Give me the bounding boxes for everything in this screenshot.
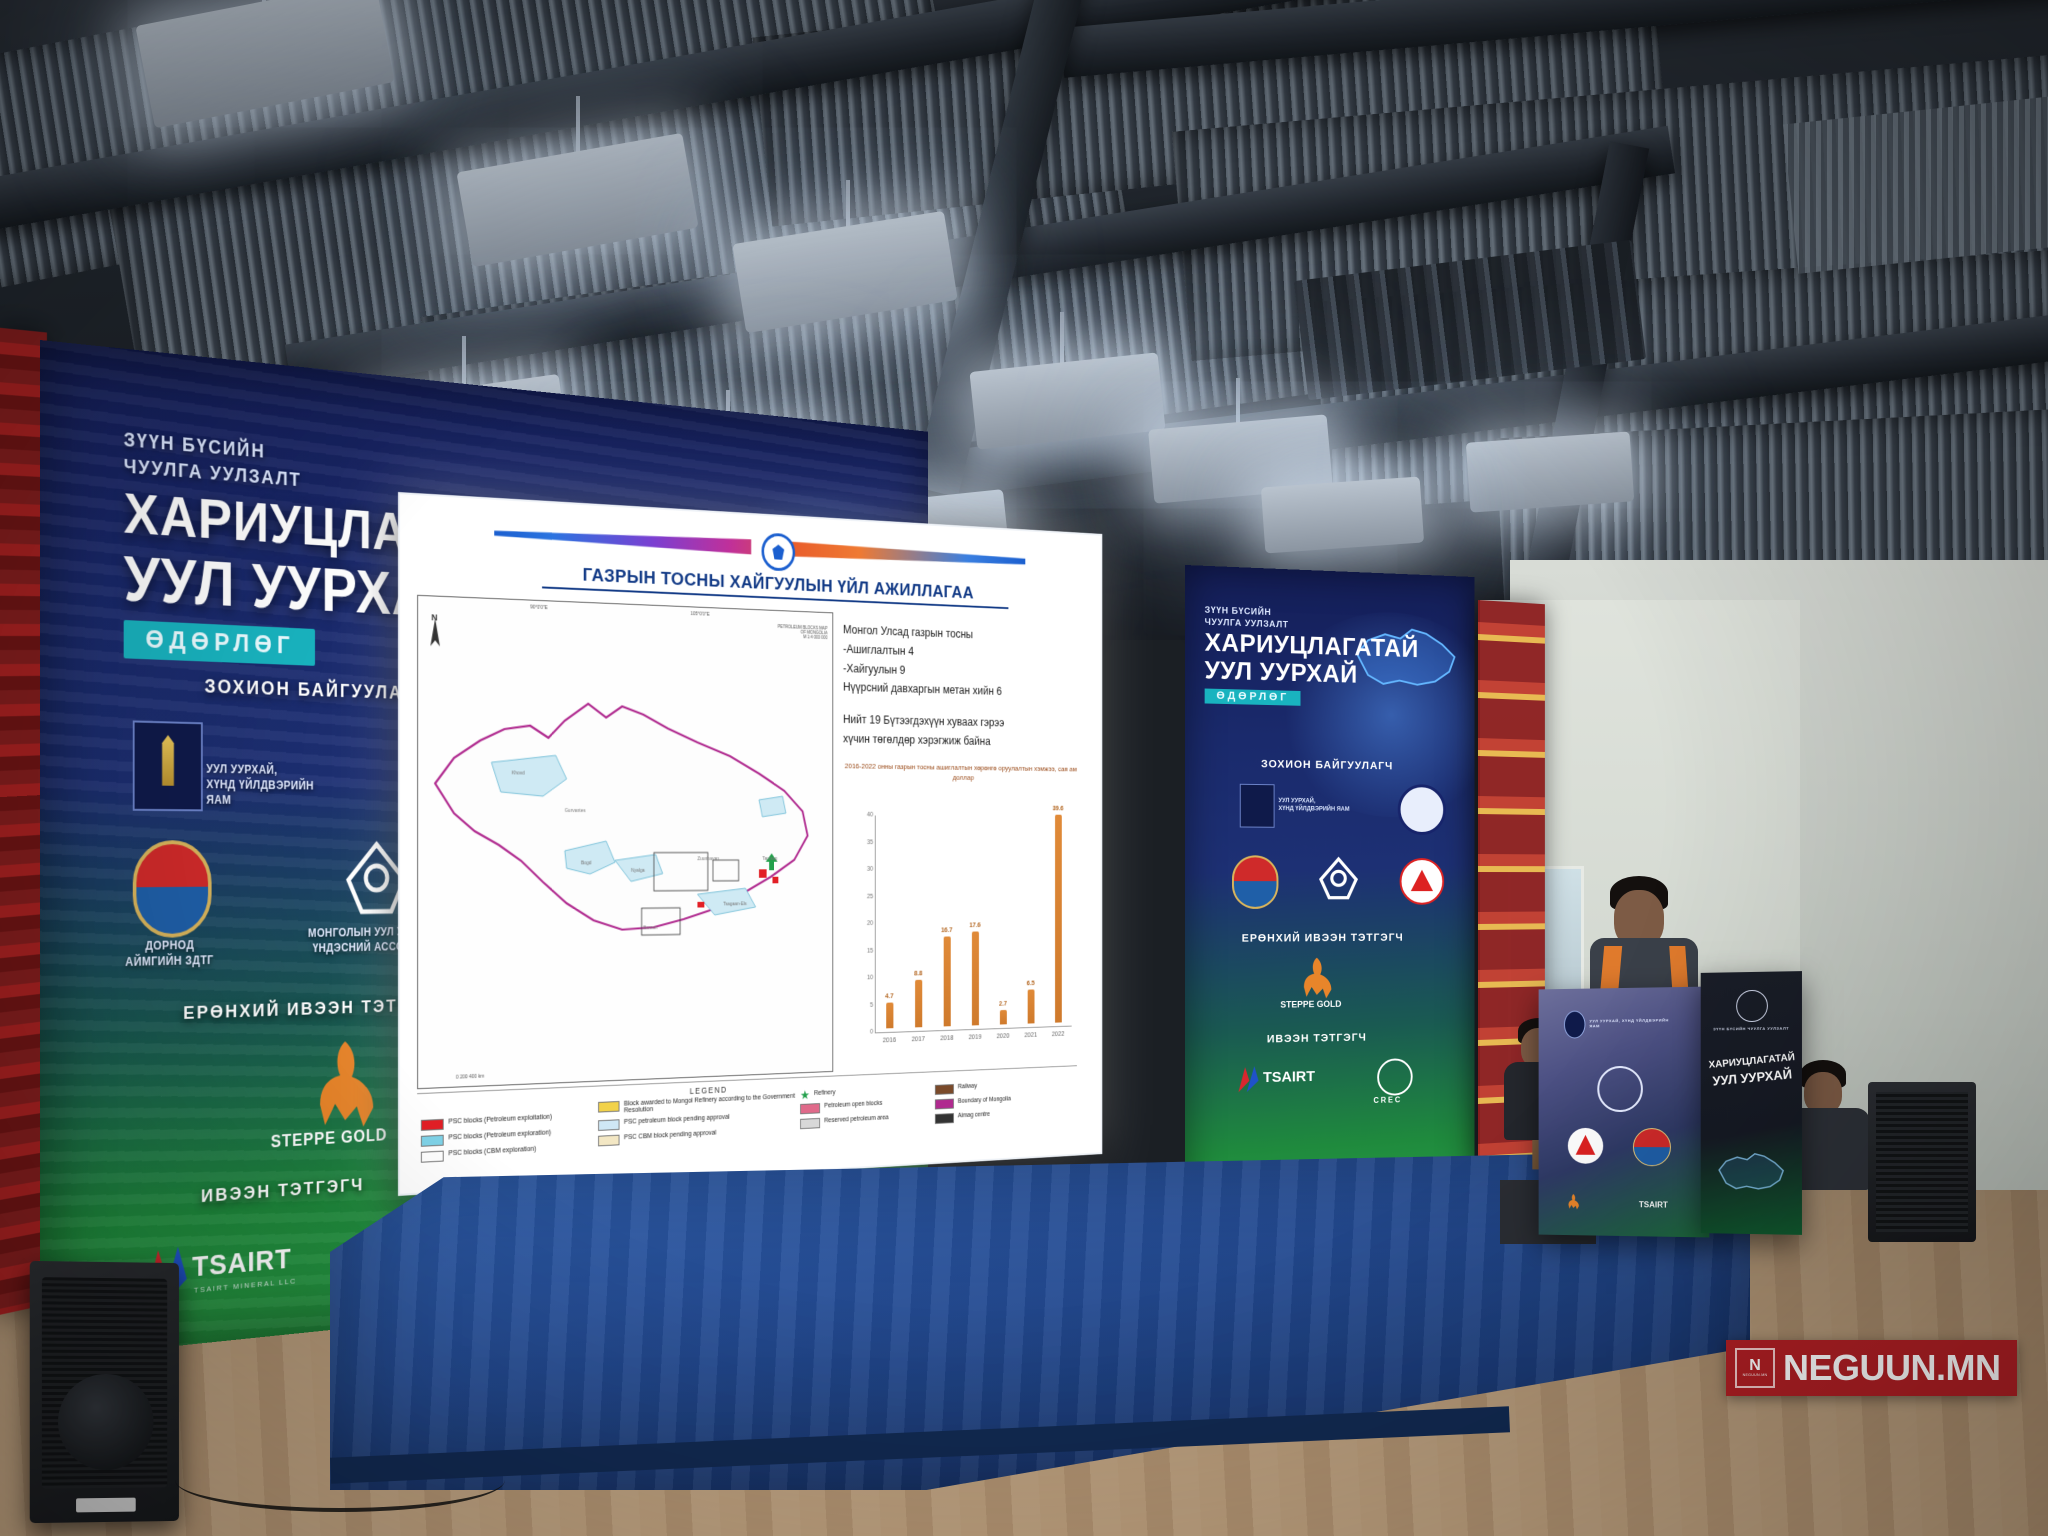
presentation-screen[interactable]: ГАЗРЫН ТОСНЫ ХАЙГУУЛЫН ҮЙЛ АЖИЛЛАГАА N P… [398, 492, 1102, 1196]
chart-y-tick: 10 [852, 975, 873, 982]
podium-front-panel: УУЛ УУРХАЙ, ХҮНД ҮЙЛДВЭРИЙН ЯАМ TSAIRT [1539, 987, 1710, 1238]
podium-brand-tsairt: TSAIRT [1639, 1200, 1668, 1209]
slide-ribbon-right [785, 541, 1025, 568]
tsairt-mark-icon [1236, 1063, 1261, 1093]
chart-y-tick: 15 [852, 947, 873, 954]
chart-x-tick: 2016 [879, 1035, 900, 1044]
ceiling-light [1473, 440, 1626, 504]
watermark-text: NEGUUN.MN [1783, 1347, 2001, 1389]
chart-bar [886, 1003, 893, 1029]
watermark: N NEGUUN.MN NEGUUN.MN [1726, 1340, 2017, 1396]
slide-body2-line: хүчин төгөлдөр хэрэгжиж байна [843, 731, 1078, 752]
mongolia-map-graphic: KhovdBogd NyalgaTsagaan-Els ZuunbayanTam… [426, 666, 824, 955]
chart-bar-value: 2.7 [993, 999, 1013, 1008]
speaker-cone [58, 1374, 153, 1471]
banner-title2: УУЛ УУРХАЙ [1205, 659, 1419, 690]
state-emblem-icon [1398, 784, 1446, 835]
podium-side-panel: ЗҮҮН БҮСИЙН ЧУУЛГА УУЛЗАЛТ ХАРИУЦЛАГАТАЙ… [1701, 971, 1802, 1235]
partner-emblem-icon [1568, 1128, 1603, 1164]
legend-swatch [935, 1113, 954, 1124]
chart-y-tick: 30 [852, 866, 873, 873]
legend-label: Aimag centre [958, 1111, 990, 1119]
steppe-gold-icon [1564, 1193, 1584, 1215]
audio-cable [175, 1448, 505, 1512]
chart-bar [1055, 815, 1062, 1023]
chart-y-tick: 5 [852, 1002, 873, 1009]
slide-text-column: Монгол Улсад газрын тосны -Ашиглалтын 4 … [843, 622, 1078, 784]
sponsor-caption-dornod: ДОРНОД АЙМГИЙН ЗДТГ [115, 937, 224, 971]
chart-y-tick: 40 [852, 812, 873, 819]
legend-swatch [421, 1119, 444, 1131]
legend-item: Reserved petroleum area [800, 1112, 930, 1129]
chart-bar-value: 17.6 [965, 921, 985, 929]
ministry-emblem-icon [133, 720, 203, 811]
legend-label: PSC CBM block pending approval [624, 1130, 716, 1141]
state-emblem-icon [1736, 990, 1768, 1022]
watermark-logo-icon: N NEGUUN.MN [1735, 1348, 1775, 1388]
svg-text:Bogd: Bogd [581, 860, 592, 866]
svg-text:Tsagaan-Els: Tsagaan-Els [723, 901, 747, 907]
legend-swatch [598, 1119, 619, 1131]
north-arrow-icon [428, 618, 443, 648]
chart-bar-value: 8.8 [908, 969, 929, 978]
legend-column-3: ★RefineryPetroleum open blocksReserved p… [800, 1085, 930, 1134]
legend-swatch [935, 1084, 954, 1095]
legend-column-1: PSC blocks (Petroleum exploitation)PSC b… [421, 1112, 596, 1168]
legend-swatch [598, 1135, 619, 1147]
partner-emblem-icon [1400, 858, 1444, 905]
legend-swatch [421, 1151, 444, 1163]
dornod-emblem-icon [133, 840, 212, 938]
chart-bar-value: 6.5 [1021, 978, 1041, 987]
slide-ribbon-left [494, 525, 1025, 568]
dornod-emblem-icon [1633, 1128, 1671, 1166]
slide: ГАЗРЫН ТОСНЫ ХАЙГУУЛЫН ҮЙЛ АЖИЛЛАГАА N P… [400, 494, 1101, 1194]
mongolia-outline-graphic [1714, 1140, 1787, 1207]
general-sponsor-label: ЕРӨНХИЙ ИВЭЭН ТЭТГЭГЧ [1242, 932, 1404, 945]
legend-item: Railway [935, 1079, 1066, 1095]
ceiling-light [977, 361, 1158, 441]
steppe-gold-icon [1292, 956, 1343, 1000]
chart-title: 2016-2022 онны газрын тосны ашиглалтын х… [843, 760, 1078, 784]
map-grid-label: 105°0'0"E [691, 611, 710, 617]
podium-side-title2: УУЛ УУРХАЙ [1712, 1066, 1793, 1088]
chart-bar [1027, 989, 1034, 1023]
chart-bar-value: 16.7 [937, 926, 958, 934]
ministry-emblem-icon [1564, 1011, 1586, 1039]
legend-label: Boundary of Mongolia [958, 1096, 1011, 1105]
ministry-emblem-icon [1240, 784, 1275, 828]
legend-swatch [800, 1118, 820, 1129]
legend-label: Railway [958, 1083, 977, 1090]
legend-item: PSC blocks (CBM exploration) [421, 1143, 596, 1163]
legend-label: PSC petroleum block pending approval [624, 1114, 730, 1126]
svg-text:Nyalga: Nyalga [631, 868, 645, 874]
chart-x-tick: 2022 [1048, 1029, 1068, 1038]
chart-y-tick: 0 [852, 1029, 873, 1036]
conference-hall-photo: ЗҮҮН БҮСИЙН ЧУУЛГА УУЛЗАЛТ ХАРИУЦЛАГАТАЙ… [0, 0, 2048, 1536]
sponsor-brand-crec: CREC [1373, 1095, 1402, 1105]
svg-text:Khovd: Khovd [512, 770, 525, 776]
podium-caption: УУЛ УУРХАЙ, ХҮНД ҮЙЛДВЭРИЙН ЯАМ [1589, 1017, 1679, 1028]
banner-headline-block: ЗҮҮН БҮСИЙН ЧУУЛГА УУЛЗАЛТ ХАРИУЦЛАГАТАЙ… [1205, 604, 1419, 709]
sponsor-label: ИВЭЭН ТЭТГЭГЧ [1267, 1032, 1367, 1046]
legend-item: Boundary of Mongolia [935, 1093, 1066, 1109]
legend-swatch [800, 1103, 820, 1114]
chart-bar [915, 980, 922, 1028]
organizer-label: ЗОХИОН БАЙГУУЛАГЧ [1261, 758, 1393, 772]
banner-badge: ӨДӨРЛӨГ [124, 620, 315, 666]
steppe-gold-icon [296, 1036, 396, 1135]
svg-text:Borzon: Borzon [643, 925, 657, 931]
chart-bar [1000, 1010, 1007, 1025]
petroleum-blocks-map: N PETROLEUM BLOCKS MAP OF MONGOLIA M 1:4… [417, 595, 833, 1089]
slide-emblem-icon [762, 532, 796, 571]
investment-bar-chart: 4.720168.8201716.7201817.620192.720206.5… [847, 812, 1074, 1071]
chart-y-tick: 25 [852, 893, 873, 900]
state-emblem-icon [1597, 1066, 1643, 1112]
chart-y-tick: 20 [852, 920, 873, 927]
ceiling-duct [1783, 96, 2048, 273]
star-icon: ★ [800, 1091, 810, 1100]
chart-plot-area: 4.720168.8201716.7201817.620192.720206.5… [875, 812, 1072, 1033]
legend-label: PSC blocks (Petroleum exploitation) [448, 1114, 552, 1126]
legend-swatch [935, 1099, 954, 1110]
crec-mark-icon [1377, 1058, 1412, 1096]
legend-column-2: Block awarded to Mongol Refinery accordi… [598, 1093, 797, 1151]
svg-text:Gurvantes: Gurvantes [565, 808, 586, 814]
chart-x-tick: 2020 [993, 1031, 1013, 1040]
chart-bar [943, 937, 950, 1027]
chart-bar-value: 4.7 [879, 992, 900, 1001]
mnma-emblem-icon [1317, 856, 1361, 901]
legend-swatch [598, 1101, 619, 1113]
backdrop-banner-right: ЗҮҮН БҮСИЙН ЧУУЛГА УУЛЗАЛТ ХАРИУЦЛАГАТАЙ… [1185, 565, 1474, 1225]
map-grid-label: 90°0'0"E [530, 604, 548, 611]
banner-badge: ӨДӨРЛӨГ [1205, 689, 1301, 706]
legend-column-4: RailwayBoundary of MongoliaAimag centre [935, 1079, 1066, 1129]
general-sponsor-name: STEPPE GOLD [1280, 999, 1341, 1010]
chart-x-tick: 2018 [937, 1033, 958, 1042]
legend-label: Petroleum open blocks [824, 1100, 882, 1109]
legend-title: LEGEND [690, 1085, 728, 1096]
map-title-block: PETROLEUM BLOCKS MAP OF MONGOLIA M 1:4 0… [684, 620, 828, 640]
svg-text:Zuunbayan: Zuunbayan [697, 856, 719, 862]
podium-side-sub: ЗҮҮН БҮСИЙН ЧУУЛГА УУЛЗАЛТ [1707, 1026, 1796, 1032]
watermark-logo-sub: NEGUUN.MN [1743, 1373, 1768, 1377]
legend-label: Refinery [814, 1089, 836, 1096]
legend-label: PSC blocks (CBM exploration) [448, 1146, 536, 1158]
sponsor-brand-tsairt: TSAIRT [1263, 1068, 1315, 1086]
ceiling-light [1268, 485, 1416, 545]
legend-swatch [421, 1135, 444, 1147]
chart-bar [972, 932, 979, 1026]
svg-text:Tamsag: Tamsag [762, 856, 777, 862]
chart-x-tick: 2017 [908, 1034, 929, 1043]
legend-item: Aimag centre [935, 1107, 1066, 1124]
legend-label: PSC blocks (Petroleum exploration) [448, 1129, 551, 1141]
chart-x-tick: 2019 [965, 1032, 985, 1041]
organizer-caption: УУЛ УУРХАЙ, ХҮНД ҮЙЛДВЭРИЙН ЯАМ [206, 761, 335, 809]
watermark-logo-letter: N [1749, 1359, 1761, 1373]
speaker-badge [76, 1498, 136, 1513]
chart-bar-value: 39.6 [1048, 804, 1068, 812]
legend-item: Petroleum open blocks [800, 1098, 930, 1114]
map-scale-label: 0 200 400 km [456, 1074, 484, 1081]
dornod-emblem-icon [1232, 855, 1278, 909]
organizer-caption: УУЛ УУРХАЙ, ХҮНД ҮЙЛДВЭРИЙН ЯАМ [1278, 798, 1354, 814]
amplifier-case [1868, 1082, 1976, 1242]
legend-label: Reserved petroleum area [824, 1115, 888, 1125]
legend-item: ★Refinery [800, 1085, 930, 1099]
chart-y-tick: 35 [852, 839, 873, 845]
pa-speaker [30, 1261, 179, 1523]
chart-x-tick: 2021 [1021, 1030, 1041, 1039]
